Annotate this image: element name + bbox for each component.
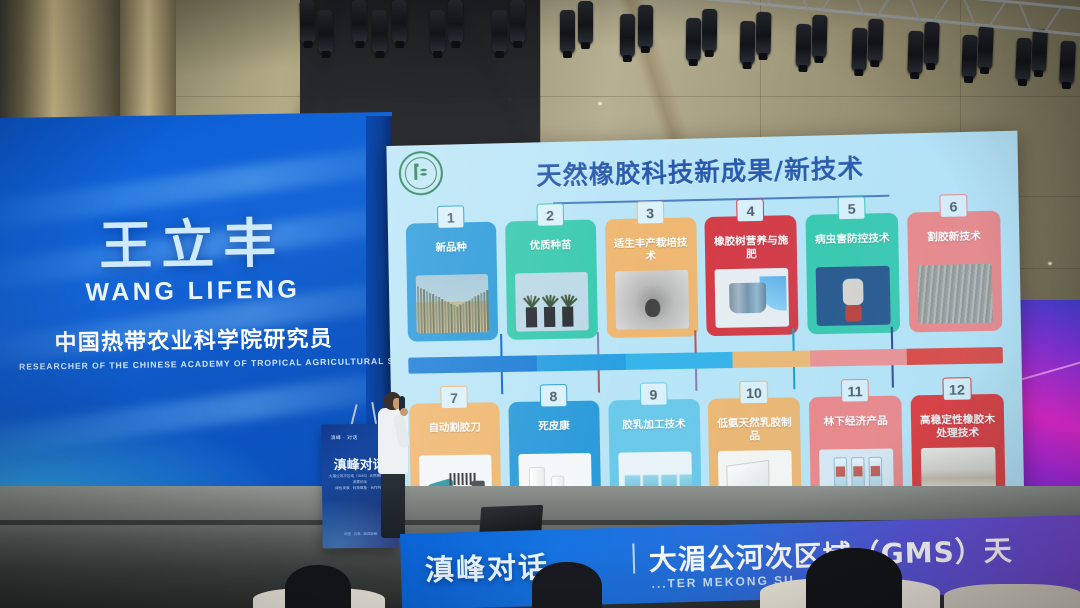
stage-light-fixture bbox=[578, 1, 593, 45]
speaker-name-cn: 王立丰 bbox=[17, 215, 368, 277]
stage-light-fixture bbox=[352, 0, 368, 44]
card-label: 低氨天然乳胶制品 bbox=[713, 417, 797, 444]
stage-light-fixture bbox=[317, 10, 333, 54]
conference-stage-scene: 王立丰 WANG LIFENG 中国热带农业科学院研究员 RESEARCHER … bbox=[0, 0, 1080, 608]
soil-planting-hole-photo bbox=[615, 270, 689, 330]
audience-head bbox=[285, 565, 351, 608]
slide-title: 天然橡胶科技新成果/新技术 bbox=[387, 145, 1019, 196]
card-label: 高稳定性橡胶木处理技术 bbox=[915, 413, 1000, 440]
card-number-badge: 5 bbox=[838, 196, 866, 220]
tech-card-4: 4橡胶树营养与施肥 bbox=[705, 215, 799, 336]
card-number-badge: 4 bbox=[737, 199, 765, 223]
card-label: 胶乳加工技术 bbox=[612, 418, 695, 432]
rubber-tree-plantation-photo bbox=[416, 274, 489, 334]
pest-control-device-photo bbox=[816, 266, 891, 326]
stage-light-fixture bbox=[392, 0, 408, 44]
card-number-badge: 3 bbox=[636, 201, 664, 225]
timeline-connector-tick bbox=[695, 369, 698, 391]
timeline-segment-3 bbox=[626, 352, 733, 370]
timeline-segment-1 bbox=[408, 355, 537, 373]
tapping-bark-texture-photo bbox=[917, 264, 992, 324]
timeline-connector-tick bbox=[500, 334, 503, 356]
banner-brand-cn: 滇峰对话 bbox=[424, 544, 549, 589]
timeline-connector-tick bbox=[597, 332, 600, 354]
card-number-badge: 6 bbox=[939, 194, 967, 218]
stage-light-fixture bbox=[638, 5, 653, 49]
audience-shoulder bbox=[944, 584, 1080, 608]
card-number-badge: 8 bbox=[540, 384, 568, 408]
wall-spotlight-reflection bbox=[1048, 262, 1052, 265]
card-label: 割胶新技术 bbox=[912, 230, 997, 245]
card-label: 适生丰产栽培技术 bbox=[609, 237, 693, 264]
stage-light-fixture bbox=[560, 10, 575, 54]
card-label: 橡胶树营养与施肥 bbox=[709, 234, 793, 261]
tech-card-2: 2优质种苗 bbox=[505, 219, 598, 339]
speaker-name-block: 王立丰 WANG LIFENG 中国热带农业科学院研究员 RESEARCHER … bbox=[17, 215, 369, 372]
timeline-connector-tick bbox=[598, 370, 601, 392]
stage-light-fixture bbox=[372, 10, 388, 54]
timeline-connector-tick bbox=[891, 327, 894, 349]
stage-light-fixture bbox=[620, 14, 635, 58]
stage-light-fixture bbox=[299, 0, 315, 44]
speaker-title-cn: 中国热带农业科学院研究员 bbox=[18, 320, 368, 357]
podium-brand-small: 滇峰 · 对话 bbox=[330, 434, 357, 441]
timeline-connector-tick bbox=[891, 365, 894, 387]
card-label: 病虫害防控技术 bbox=[810, 232, 894, 247]
speaker-name-en: WANG LIFENG bbox=[18, 274, 368, 308]
card-number-badge: 7 bbox=[440, 386, 467, 409]
timeline-segment-6 bbox=[906, 347, 1003, 365]
card-label: 新品种 bbox=[410, 241, 492, 255]
card-number-badge: 1 bbox=[437, 205, 464, 229]
card-number-badge: 11 bbox=[841, 379, 869, 403]
tech-card-3: 3适生丰产栽培技术 bbox=[605, 217, 699, 338]
card-label: 死皮康 bbox=[513, 420, 596, 434]
tech-card-6: 6割胶新技术 bbox=[907, 211, 1002, 333]
projection-screen: 天然橡胶科技新成果/新技术 1新品种2优质种苗3适生丰产栽培技术4橡胶树营养与施… bbox=[386, 131, 1024, 542]
card-row-top: 1新品种2优质种苗3适生丰产栽培技术4橡胶树营养与施肥5病虫害防控技术6割胶新技… bbox=[406, 211, 1003, 342]
card-number-badge: 10 bbox=[740, 381, 769, 405]
timeline-connector-tick bbox=[793, 367, 796, 389]
fertilizer-bucket-illustration bbox=[715, 268, 790, 328]
stage-light-fixture bbox=[430, 10, 446, 54]
card-number-badge: 2 bbox=[536, 203, 564, 227]
stage-light-fixture bbox=[448, 0, 463, 44]
seedling-pots-photo bbox=[515, 272, 589, 332]
presenter-person bbox=[378, 392, 410, 540]
audience-head bbox=[806, 548, 902, 608]
timeline-connector-tick bbox=[501, 372, 504, 394]
timeline-connector-tick bbox=[792, 328, 795, 350]
card-label: 林下经济产品 bbox=[813, 415, 897, 429]
banner-separator bbox=[632, 543, 635, 573]
card-label: 优质种苗 bbox=[509, 239, 592, 254]
tech-card-1: 1新品种 bbox=[406, 222, 498, 342]
audience-head bbox=[532, 562, 602, 608]
timeline-segment-5 bbox=[810, 349, 906, 367]
progress-timeline-bar bbox=[408, 347, 1003, 374]
timeline-segment-4 bbox=[733, 350, 811, 368]
card-number-badge: 9 bbox=[639, 382, 667, 406]
card-number-badge: 12 bbox=[942, 377, 971, 401]
stage-light-fixture bbox=[492, 10, 507, 54]
stage-light-fixture bbox=[510, 0, 525, 44]
card-label: 自动割胶刀 bbox=[413, 421, 495, 435]
timeline-segment-2 bbox=[537, 354, 626, 372]
tech-card-5: 5病虫害防控技术 bbox=[806, 213, 901, 334]
timeline-connector-tick bbox=[694, 330, 697, 352]
